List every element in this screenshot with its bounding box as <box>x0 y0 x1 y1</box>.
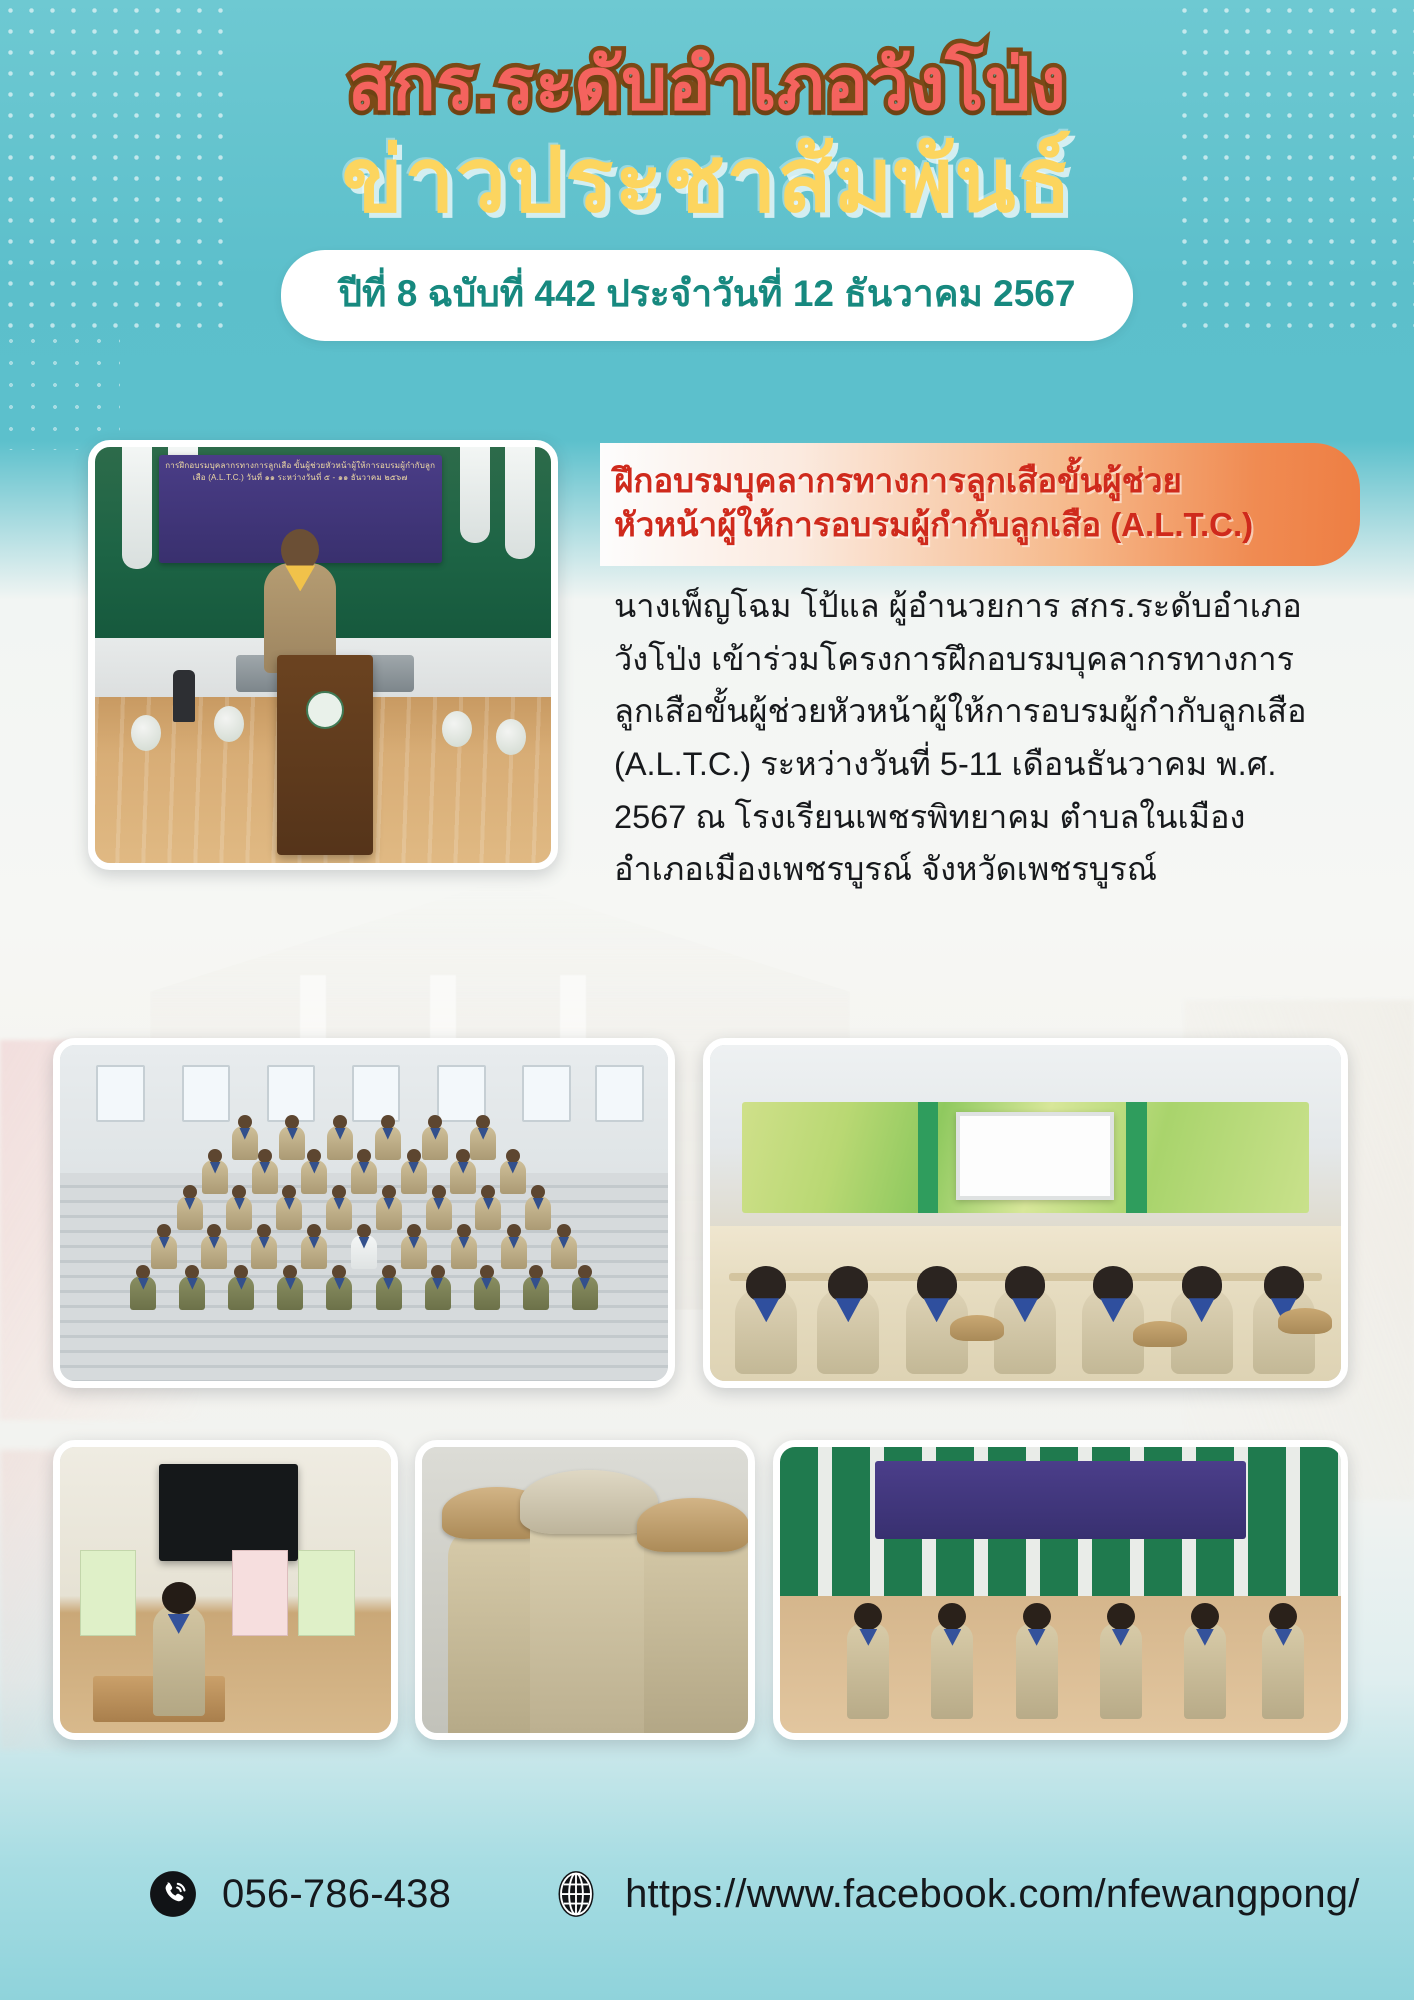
photo-opening-ceremony <box>773 1440 1348 1740</box>
article-body: นางเพ็ญโฉม โป้แล ผู้อำนวยการ สกร.ระดับอำ… <box>614 580 1384 896</box>
photo-training-hall <box>703 1038 1348 1388</box>
phone-icon <box>146 1867 200 1921</box>
photo-classroom-activity <box>53 1440 398 1740</box>
globe-icon <box>549 1867 603 1921</box>
phone-number[interactable]: 056-786-438 <box>222 1872 451 1917</box>
website-url[interactable]: https://www.facebook.com/nfewangpong/ <box>625 1872 1360 1917</box>
poster-canvas: สกร.ระดับอำเภอวังโป่ง ข่าวประชาสัมพันธ์ … <box>0 0 1414 2000</box>
headline-line-2: หัวหน้าผู้ให้การอบรมผู้กำกับลูกเสือ (A.L… <box>614 503 1326 547</box>
headline-line-1: ฝึกอบรมบุคลากรทางการลูกเสือขั้นผู้ช่วย <box>614 459 1326 503</box>
photo-salute-ceremony <box>415 1440 755 1740</box>
poster-footer: 056-786-438 https://www.facebook.com/nfe… <box>0 1795 1414 2000</box>
page-title: ข่าวประชาสัมพันธ์ <box>0 134 1414 229</box>
stage-banner-text: การฝึกอบรมบุคลากรทางการลูกเสือ ขั้นผู้ช่… <box>159 460 442 484</box>
photo-hero-speaker: การฝึกอบรมบุคลากรทางการลูกเสือ ขั้นผู้ช่… <box>88 440 558 870</box>
article-headline: ฝึกอบรมบุคลากรทางการลูกเสือขั้นผู้ช่วย ห… <box>600 443 1360 566</box>
poster-header: สกร.ระดับอำเภอวังโป่ง ข่าวประชาสัมพันธ์ … <box>0 0 1414 341</box>
article-body-text: นางเพ็ญโฉม โป้แล ผู้อำนวยการ สกร.ระดับอำ… <box>614 580 1384 896</box>
feature-section: การฝึกอบรมบุคลากรทางการลูกเสือ ขั้นผู้ช่… <box>0 455 1414 975</box>
organization-title: สกร.ระดับอำเภอวังโป่ง <box>0 48 1414 124</box>
dot-pattern-left <box>0 330 120 450</box>
issue-badge: ปีที่ 8 ฉบับที่ 442 ประจำวันที่ 12 ธันวา… <box>281 250 1134 341</box>
photo-group-portrait <box>53 1038 675 1388</box>
